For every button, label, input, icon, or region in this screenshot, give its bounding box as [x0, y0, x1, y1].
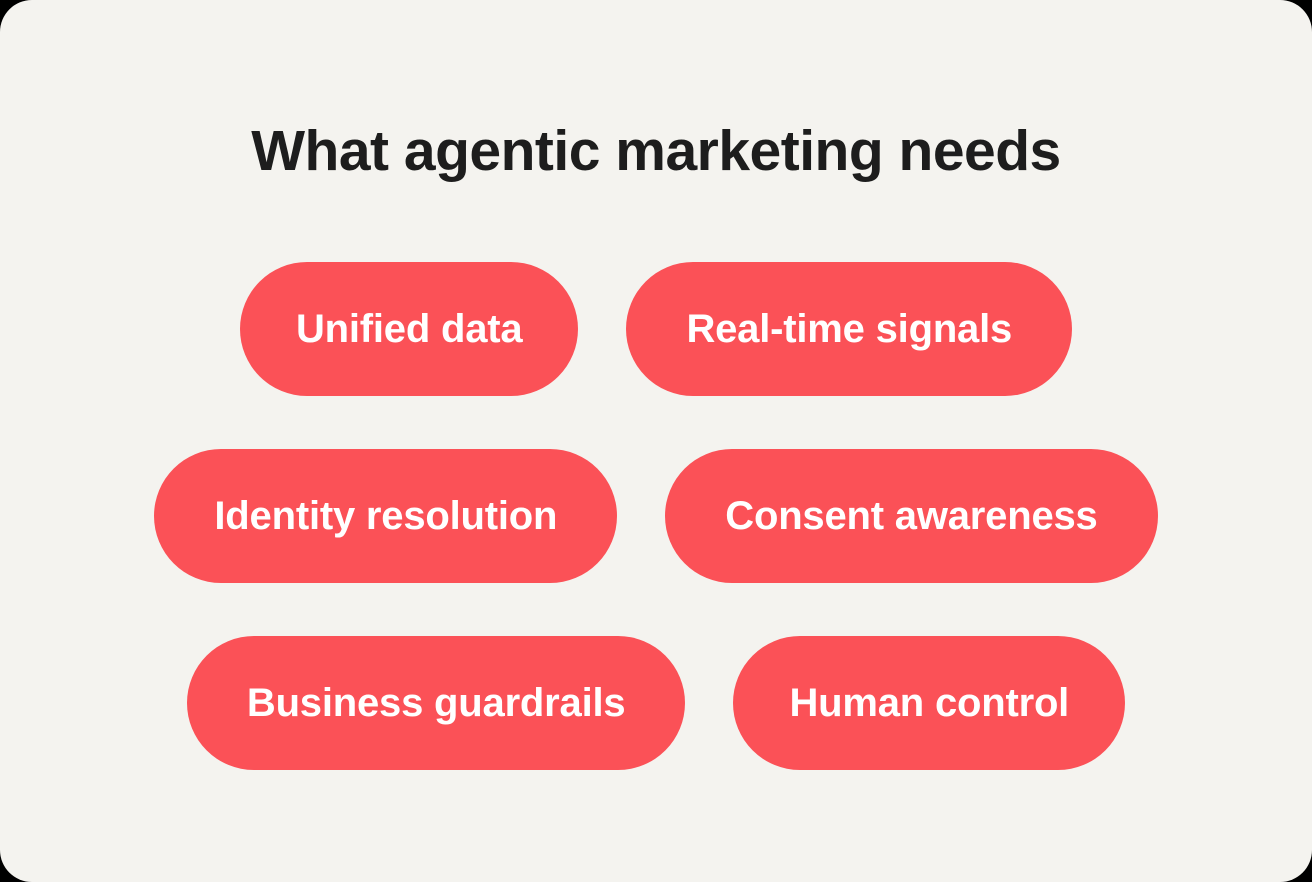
- pill-grid: Unified data Real-time signals Identity …: [0, 262, 1312, 770]
- pill-consent-awareness[interactable]: Consent awareness: [665, 449, 1157, 583]
- pill-human-control[interactable]: Human control: [733, 636, 1125, 770]
- pill-row: Identity resolution Consent awareness: [154, 449, 1157, 583]
- pill-identity-resolution[interactable]: Identity resolution: [154, 449, 617, 583]
- pill-business-guardrails[interactable]: Business guardrails: [187, 636, 686, 770]
- pill-row: Business guardrails Human control: [187, 636, 1125, 770]
- pill-row: Unified data Real-time signals: [240, 262, 1072, 396]
- pill-unified-data[interactable]: Unified data: [240, 262, 579, 396]
- pill-real-time-signals[interactable]: Real-time signals: [626, 262, 1072, 396]
- page-title: What agentic marketing needs: [0, 119, 1312, 185]
- infographic-card: What agentic marketing needs Unified dat…: [0, 0, 1312, 882]
